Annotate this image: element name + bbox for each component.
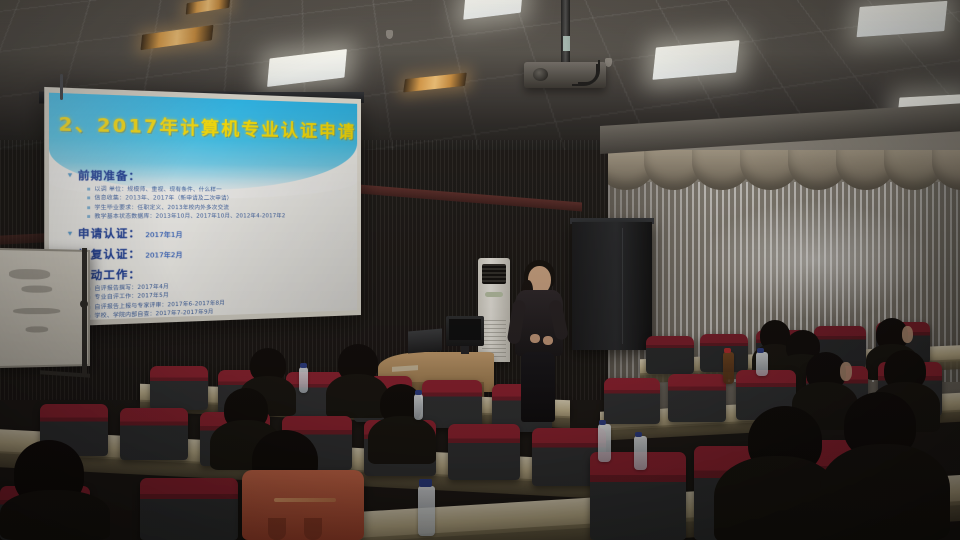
handbag-zipper [274,498,336,502]
whiteboard-marks [13,308,60,314]
lecture-hall-photo: 2、2017年计算机专业认证申请 ▾前期准备： ▪以调 单位：规模师、重视、现有… [0,0,960,540]
projector-mount-pole [561,0,570,66]
whiteboard-marks [21,285,52,292]
whiteboard-stand-knob [80,300,88,308]
tea-bottle [723,352,734,384]
bottle-cap [635,432,642,437]
whiteboard-marks [9,269,50,280]
projection-screen: 2、2017年计算机专业认证申请 ▾前期准备： ▪以调 单位：规模师、重视、现有… [44,87,361,327]
water-bottle [418,486,435,536]
monitor-screen [449,319,481,340]
bottle-cap [415,390,422,395]
handbag-flap-right [304,518,322,540]
sprinkler-head-1 [386,30,393,39]
whiteboard-marks [26,326,48,332]
presenter-legs [521,352,555,422]
seat [668,374,726,422]
water-bottle [598,424,611,462]
projected-slide: 2、2017年计算机专业认证申请 ▾前期准备： ▪以调 单位：规模师、重视、现有… [49,93,357,322]
ac-display-badge [485,292,503,297]
seat [646,336,694,374]
ac-vent-grill-icon [482,264,506,284]
water-bottle [299,367,308,393]
water-bottle [414,394,423,420]
av-equipment-cabinet [572,222,652,350]
bottle-cap [599,420,606,425]
seat [120,408,188,460]
ceiling-light-panel-4 [857,1,948,37]
podium-monitor [446,316,484,346]
cabinet-door [622,228,649,344]
whiteboard-stand-post [82,248,87,374]
podium-laptop [408,329,442,354]
projector-pole-label [563,36,570,51]
projector-lens-icon [533,68,548,81]
handbag-flap-left [268,518,286,540]
bottle-cap [300,363,307,368]
presenter-hand-right [543,336,553,345]
seat [604,378,660,424]
handbag [242,470,364,540]
screen-sheen [49,93,357,322]
seat [448,424,520,480]
cabinet-handle [60,74,63,100]
air-conditioner [478,258,510,362]
water-bottle [634,436,647,470]
bottle-cap [757,348,764,353]
seat [140,478,238,540]
bottle-cap [724,348,731,353]
water-bottle [756,352,768,376]
sprinkler-head-2 [605,58,612,67]
whiteboard [0,248,90,368]
valance-swag [932,150,960,190]
monitor-stand [461,346,469,354]
bottle-cap [419,479,432,487]
curtain-valance [608,150,960,192]
seat [150,366,208,410]
presenter-hand-left [530,334,540,343]
